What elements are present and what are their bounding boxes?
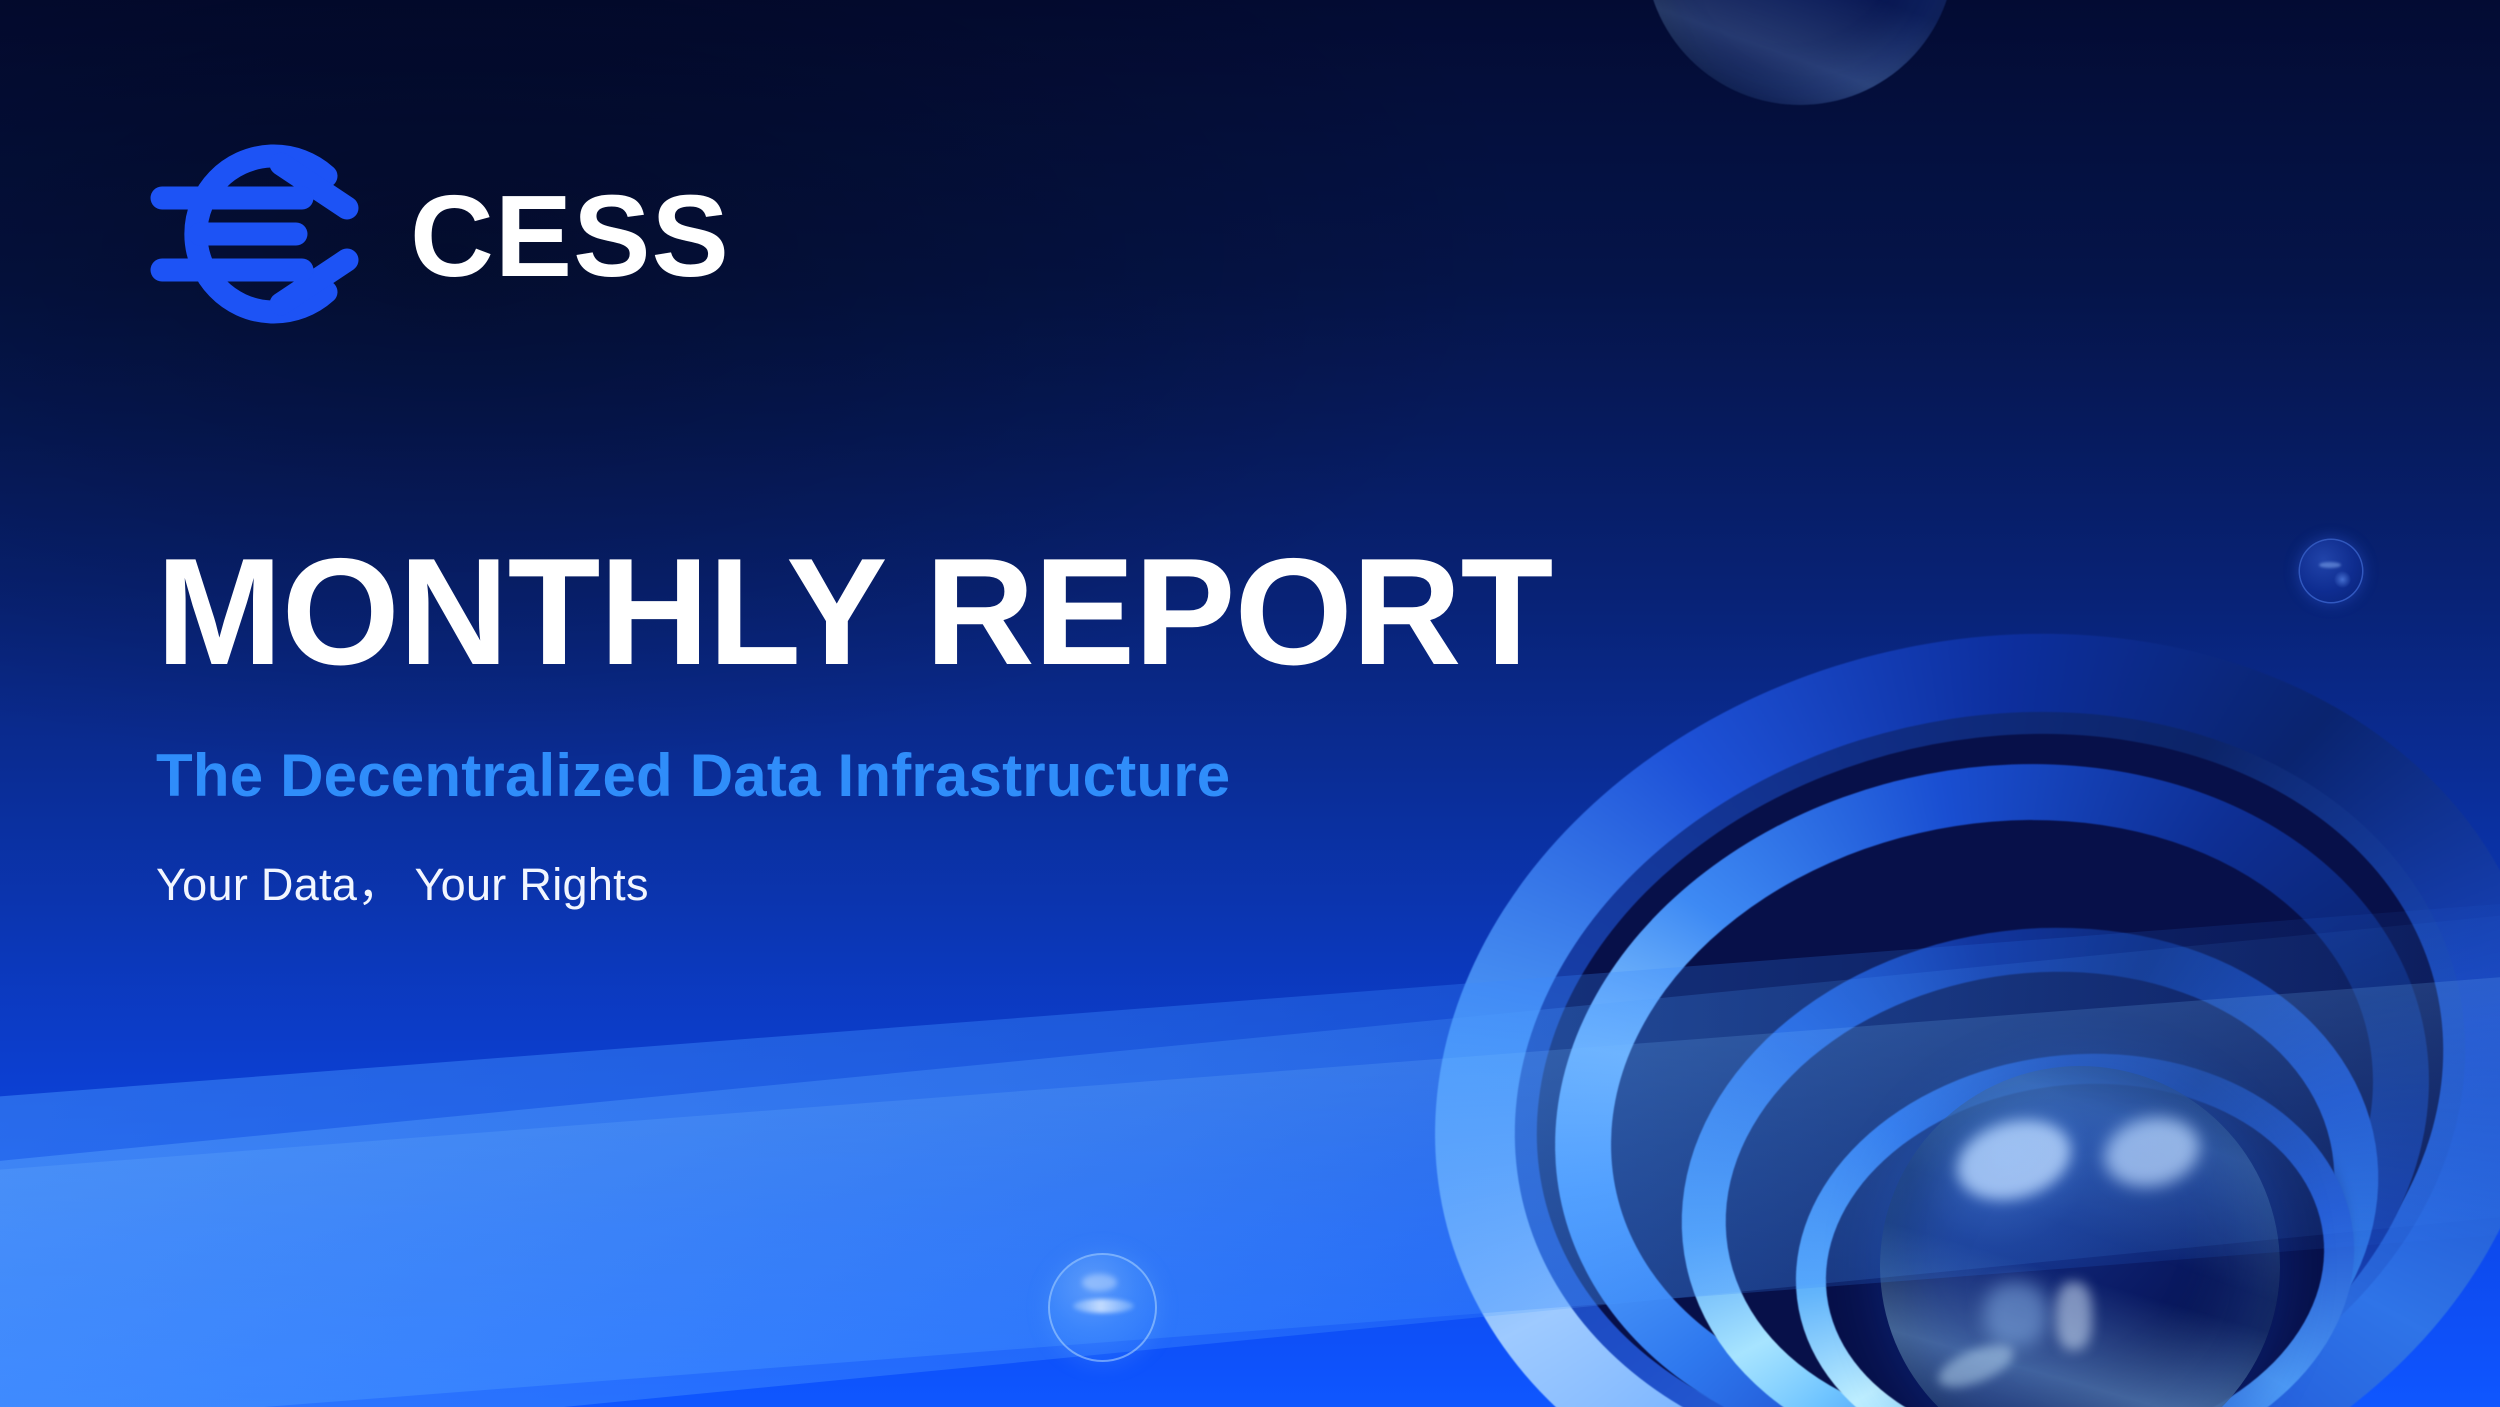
brand-wordmark: CESS (410, 178, 730, 294)
slide-canvas: CESS MONTHLY REPORT The Decentralized Da… (0, 0, 2500, 1407)
page-subtitle: The Decentralized Data Infrastructure (156, 746, 1656, 806)
cess-logo-mark-icon (150, 128, 386, 340)
hero-copy: MONTHLY REPORT The Decentralized Data In… (156, 536, 1656, 907)
large-bubble-decor (1050, 1255, 1155, 1360)
page-tagline: Your Data， Your Rights (156, 862, 1656, 907)
small-bubble-decor (2300, 540, 2362, 602)
brand-logo[interactable]: CESS (150, 128, 730, 340)
page-title: MONTHLY REPORT (156, 536, 1656, 688)
